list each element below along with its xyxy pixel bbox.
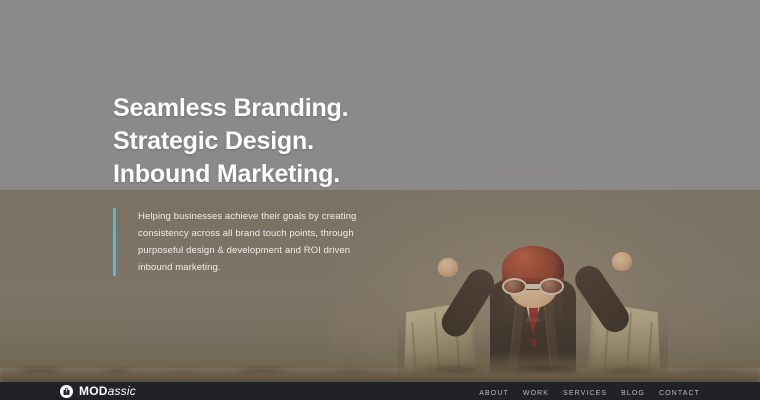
brand-name-italic: assic bbox=[108, 384, 136, 398]
nav-link-blog[interactable]: BLOG bbox=[621, 390, 645, 397]
goggle-lens-left bbox=[502, 278, 527, 295]
child-mouth bbox=[526, 318, 540, 322]
nav-link-contact[interactable]: CONTACT bbox=[659, 390, 700, 397]
nav-link-work[interactable]: WORK bbox=[523, 390, 549, 397]
child-fist-right bbox=[612, 252, 632, 271]
flight-goggles-icon bbox=[502, 278, 564, 295]
hero-lede-text: Helping businesses achieve their goals b… bbox=[138, 208, 373, 276]
hero-copy: Seamless Branding. Strategic Design. Inb… bbox=[113, 92, 533, 191]
nav-link-services[interactable]: SERVICES bbox=[563, 390, 607, 397]
headline-line-2: Strategic Design. bbox=[113, 125, 533, 158]
nav-item-services[interactable]: SERVICES bbox=[563, 382, 607, 400]
site-navbar: MODassic ABOUT WORK SERVICES BLOG CONTAC… bbox=[0, 382, 760, 400]
hero-background-photo bbox=[0, 0, 760, 400]
nav-item-blog[interactable]: BLOG bbox=[621, 382, 645, 400]
bag-icon bbox=[60, 385, 73, 398]
primary-nav: ABOUT WORK SERVICES BLOG CONTACT bbox=[479, 382, 700, 400]
page-viewport: Seamless Branding. Strategic Design. Inb… bbox=[0, 0, 760, 400]
nav-link-about[interactable]: ABOUT bbox=[479, 390, 509, 397]
goggle-lens-right bbox=[539, 278, 564, 295]
headline-line-1: Seamless Branding. bbox=[113, 92, 533, 125]
headline-line-3: Inbound Marketing. bbox=[113, 158, 533, 191]
page-title: Seamless Branding. Strategic Design. Inb… bbox=[113, 92, 533, 191]
nav-item-work[interactable]: WORK bbox=[523, 382, 549, 400]
nav-item-about[interactable]: ABOUT bbox=[479, 382, 509, 400]
brand-name-bold: MOD bbox=[79, 384, 108, 398]
child-fist-left bbox=[438, 258, 458, 277]
nav-item-contact[interactable]: CONTACT bbox=[659, 382, 700, 400]
brand-logo[interactable]: MODassic bbox=[60, 384, 136, 398]
hero-lede-block: Helping businesses achieve their goals b… bbox=[113, 208, 373, 276]
goggle-bridge bbox=[526, 284, 540, 289]
brand-name: MODassic bbox=[79, 384, 136, 398]
